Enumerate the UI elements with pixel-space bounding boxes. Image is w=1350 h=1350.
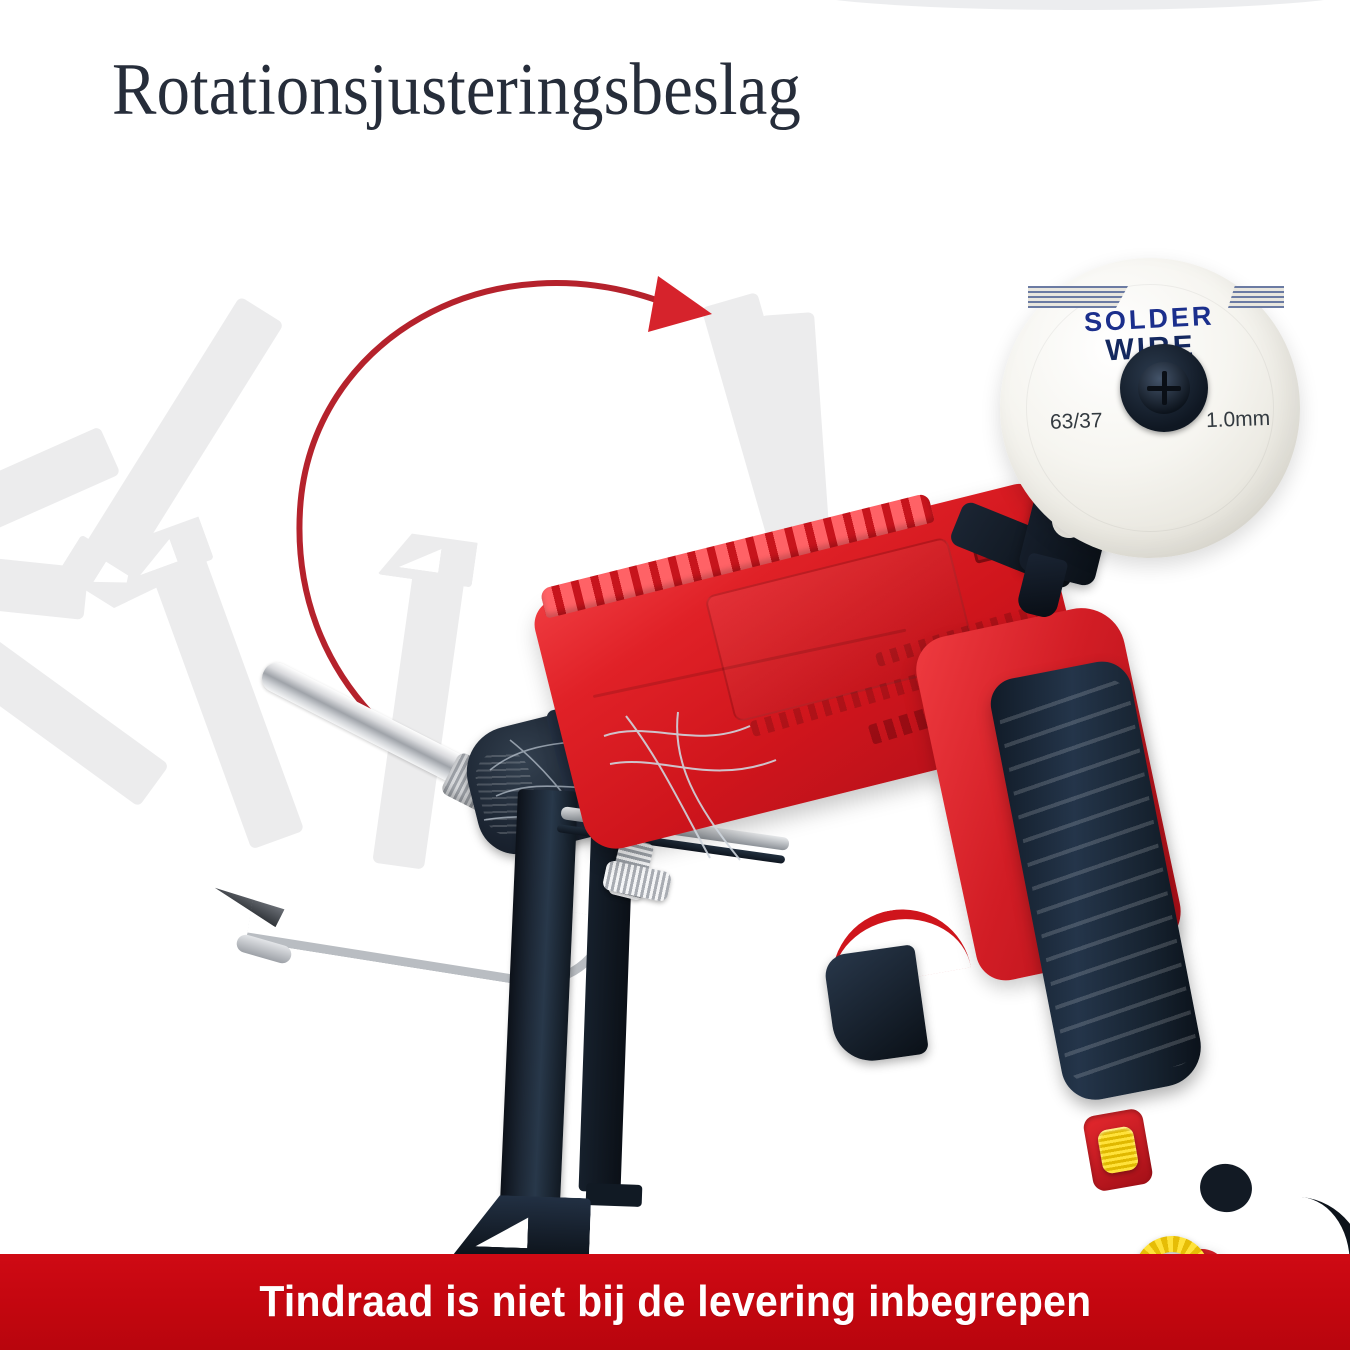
product-image: Rotationsjusteringsbeslag	[0, 0, 1350, 1350]
stand-foot-rear	[586, 1183, 643, 1207]
disclaimer-text: Tindraad is niet bij de levering inbegre…	[259, 1277, 1091, 1327]
page-title: Rotationsjusteringsbeslag	[112, 52, 801, 130]
top-edge-artifact	[790, 0, 1350, 10]
spool-alloy-spec: 63/37	[1050, 409, 1103, 435]
solder-wire-spool: SOLDER WIRE 63/37 1.0mm	[1000, 258, 1300, 558]
product-scene: SOLDER WIRE 63/37 1.0mm	[0, 150, 1350, 1260]
stand-leg-front	[498, 789, 578, 1251]
trigger[interactable]	[823, 944, 929, 1066]
spool-hub	[1120, 344, 1208, 432]
feed-button[interactable]	[1096, 1125, 1139, 1175]
stand-foot-front	[451, 1194, 591, 1263]
spool-stripe-graphic-left	[1028, 286, 1128, 308]
spool-screw-icon	[1138, 362, 1190, 414]
spool-diameter-spec: 1.0mm	[1205, 407, 1270, 433]
disclaimer-banner: Tindraad is niet bij de levering inbegre…	[0, 1254, 1350, 1350]
